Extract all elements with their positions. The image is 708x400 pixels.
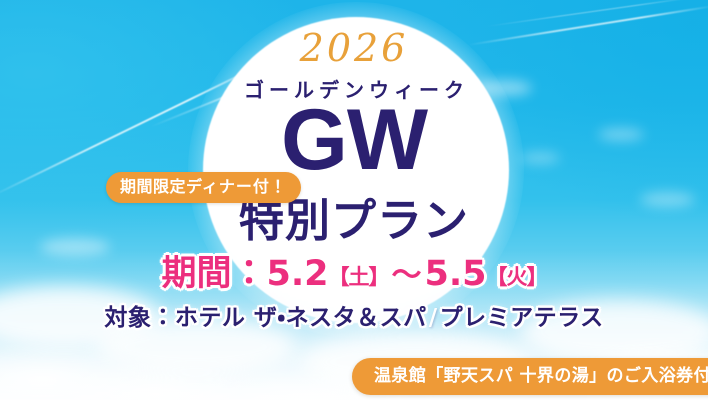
period-end-date: 5.5	[425, 254, 487, 294]
period-line: 期間：5.2【土】～5.5【火】	[0, 254, 708, 297]
badge-dinner-suffix: ディナー付！	[186, 177, 287, 196]
period-start-dow: 【土】	[329, 265, 389, 289]
gw-2026-campaign-banner: 2026 ゴールデンウィーク GW 特別プラン 期間：5.2【土】～5.5【火】…	[0, 0, 708, 400]
target-hotel-a: ホテル ザ・ネスタ＆スパ	[175, 305, 427, 331]
page-title: GW	[0, 97, 708, 183]
plan-title: 特別プラン	[0, 196, 708, 246]
period-start-date: 5.2	[266, 254, 328, 294]
badge-dinner-prefix: 期間限定	[120, 177, 186, 196]
period-end-dow: 【火】	[487, 265, 547, 289]
target-hotel-b: プレミアテラス	[440, 305, 604, 331]
target-label: 対象：	[104, 305, 175, 331]
target-divider: /	[427, 305, 440, 331]
period-label: 期間：	[161, 254, 266, 294]
period-separator: ～	[389, 258, 425, 293]
badge-dinner-included: 期間限定ディナー付！	[106, 172, 301, 203]
year-label: 2026	[0, 26, 708, 70]
badge-onsen-ticket-included: 温泉館「野天スパ 十界の湯」のご入浴券付	[352, 358, 708, 395]
target-line: 対象：ホテル ザ・ネスタ＆スパ/プレミアテラス	[0, 303, 708, 333]
